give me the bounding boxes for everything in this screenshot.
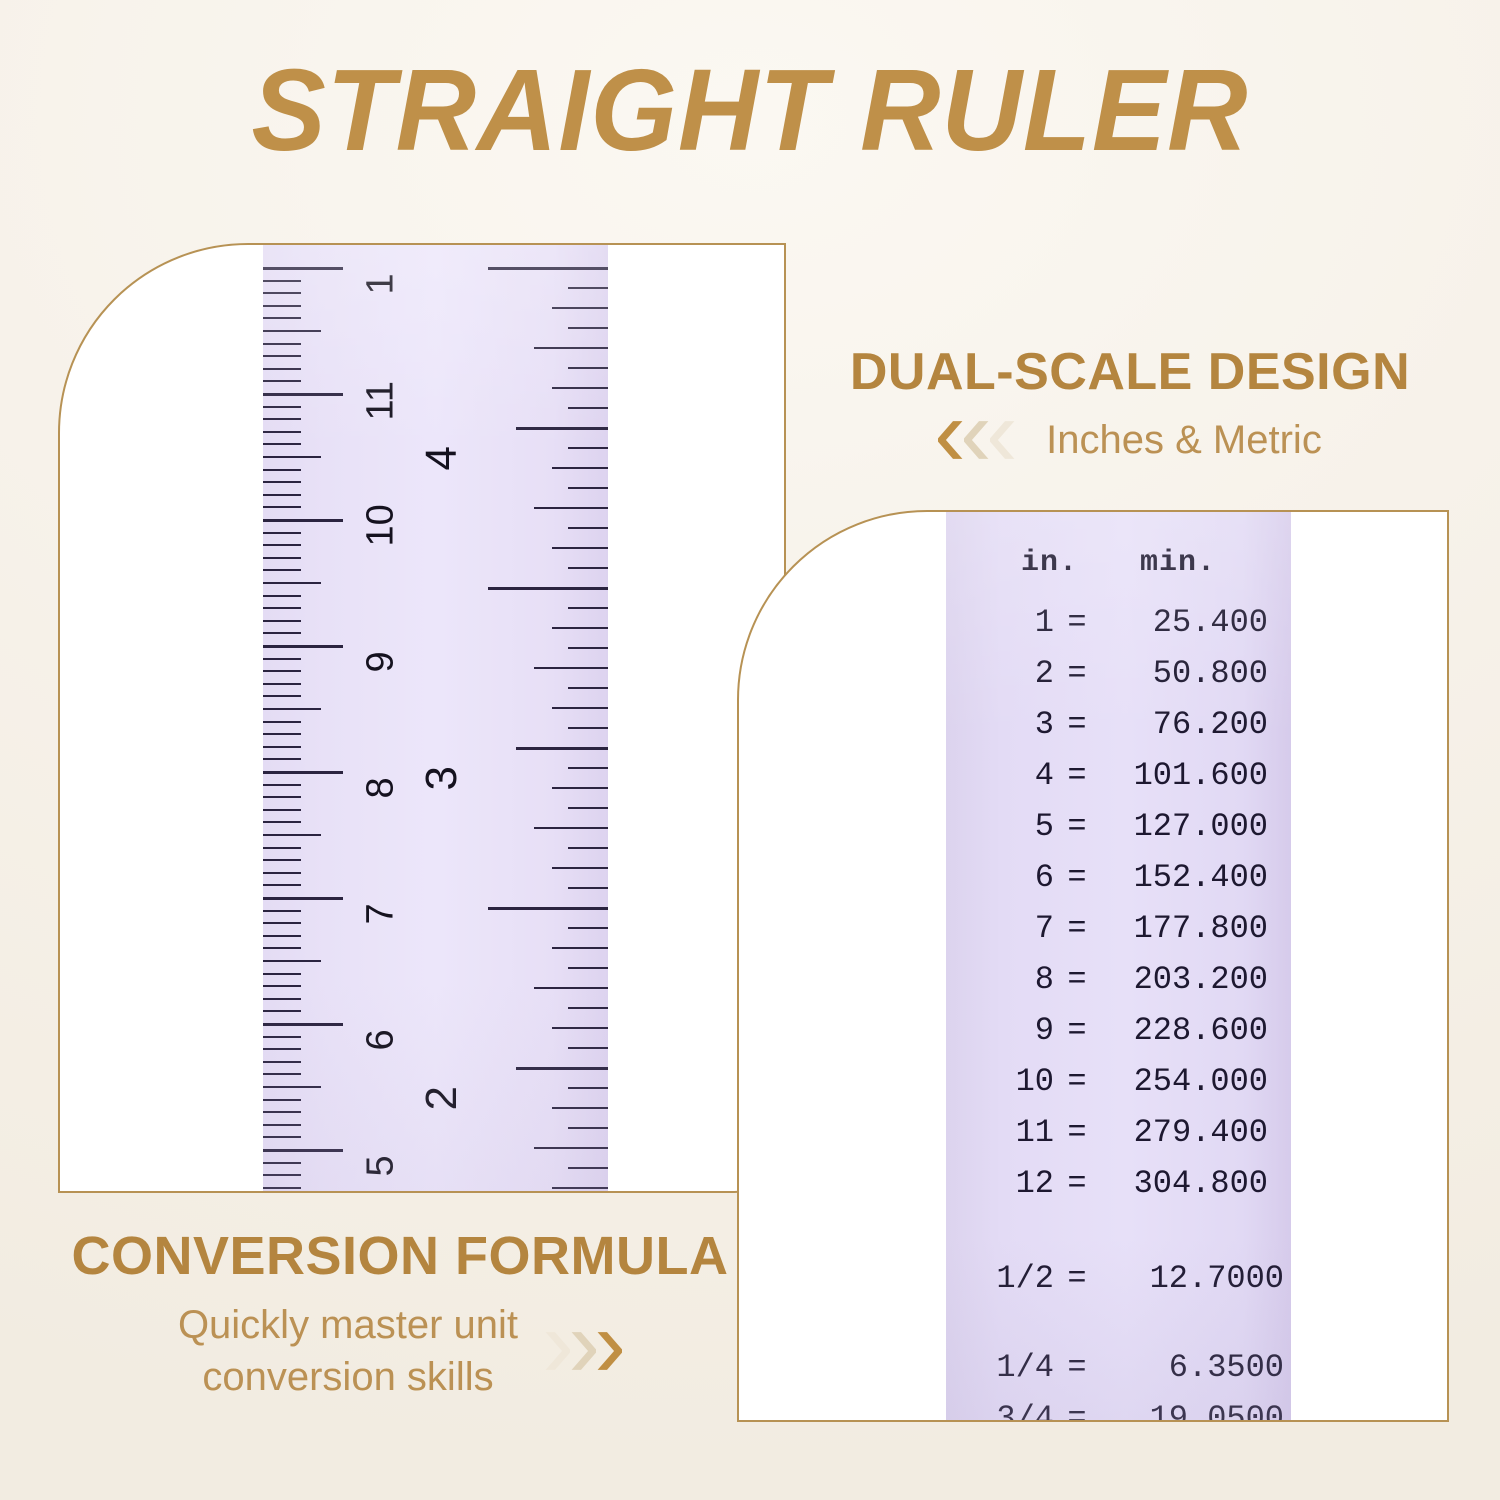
table-cell-inches: 8 (946, 961, 1054, 998)
inch-tick (534, 827, 608, 829)
metric-tick (263, 998, 301, 1000)
inch-number-label: 4 (417, 446, 467, 506)
table-cell-millimeters: 152.400 (1100, 859, 1282, 896)
chevron-left-icon-group (938, 420, 1020, 460)
metric-tick (263, 670, 301, 672)
metric-tick (263, 595, 301, 597)
conversion-table-panel: in. min. 1=25.4002=50.8003=76.2004=101.6… (737, 510, 1449, 1422)
table-row-whole: 7=177.800 (946, 910, 1291, 947)
table-cell-equals: = (1054, 1260, 1100, 1297)
metric-tick (263, 1124, 301, 1126)
table-row-whole: 3=76.200 (946, 706, 1291, 743)
inch-tick (568, 447, 608, 449)
inch-tick (534, 507, 608, 509)
metric-tick (263, 796, 301, 798)
metric-tick (263, 632, 301, 634)
table-cell-equals: = (1054, 859, 1100, 896)
conversion-table-strip: in. min. 1=25.4002=50.8003=76.2004=101.6… (946, 512, 1291, 1420)
inch-tick (568, 647, 608, 649)
metric-tick (263, 973, 301, 975)
metric-tick (263, 784, 301, 786)
metric-tick (263, 569, 301, 571)
metric-tick (263, 431, 301, 433)
metric-tick (263, 494, 301, 496)
table-cell-equals: = (1054, 757, 1100, 794)
metric-tick (263, 280, 301, 282)
table-cell-equals: = (1054, 1165, 1100, 1202)
metric-tick (263, 1111, 301, 1113)
inch-tick (516, 747, 608, 750)
metric-tick (263, 897, 343, 900)
table-row-half: 1/2=12.7000 (946, 1260, 1291, 1297)
inch-tick (568, 967, 608, 969)
inch-tick (552, 707, 608, 709)
metric-number-label: 10 (360, 483, 403, 547)
table-cell-millimeters: 76.200 (1100, 706, 1282, 743)
table-row-whole: 8=203.200 (946, 961, 1291, 998)
ruler-photo-panel: 1111098765432 (58, 243, 786, 1193)
table-cell-inches: 12 (946, 1165, 1054, 1202)
inch-number-label: 3 (417, 766, 467, 826)
metric-tick (263, 393, 343, 396)
metric-tick (263, 1086, 321, 1088)
inch-tick (552, 627, 608, 629)
inch-tick (534, 987, 608, 989)
metric-tick (263, 532, 301, 534)
table-cell-millimeters: 127.000 (1100, 808, 1282, 845)
table-row-whole: 11=279.400 (946, 1114, 1291, 1151)
inch-tick (568, 1007, 608, 1009)
inch-tick (488, 587, 608, 590)
inch-tick (534, 1147, 608, 1149)
table-row-whole: 1=25.400 (946, 604, 1291, 641)
conversion-formula-subtitle: Quickly master unit conversion skills (178, 1299, 518, 1403)
metric-tick (263, 1187, 301, 1189)
metric-tick (263, 343, 301, 345)
metric-number-label: 11 (360, 357, 403, 421)
metric-tick (263, 834, 321, 836)
metric-number-label: 9 (360, 609, 403, 673)
table-row-whole: 2=50.800 (946, 655, 1291, 692)
inch-tick (568, 527, 608, 529)
metric-tick (263, 872, 301, 874)
metric-tick (263, 355, 301, 357)
metric-tick (263, 935, 301, 937)
conversion-formula-title: CONVERSION FORMULA (50, 1228, 750, 1285)
metric-tick (263, 506, 301, 508)
metric-tick (263, 1036, 301, 1038)
inch-tick (488, 907, 608, 910)
metric-tick (263, 418, 301, 420)
table-cell-millimeters: 177.800 (1100, 910, 1282, 947)
metric-tick (263, 406, 301, 408)
table-cell-equals: = (1054, 1012, 1100, 1049)
inch-tick (568, 887, 608, 889)
table-cell-inches: 1 (946, 604, 1054, 641)
metric-tick (263, 721, 301, 723)
table-cell-millimeters: 50.800 (1100, 655, 1282, 692)
table-row-quarter: 1/4=6.3500 (946, 1349, 1291, 1386)
dual-scale-title: DUAL-SCALE DESIGN (820, 345, 1440, 400)
table-cell-millimeters: 12.7000 (1100, 1260, 1284, 1297)
inch-tick (552, 467, 608, 469)
inch-tick (568, 567, 608, 569)
inch-tick (568, 687, 608, 689)
inch-tick (552, 947, 608, 949)
metric-tick (263, 443, 301, 445)
table-cell-millimeters: 6.3500 (1100, 1349, 1284, 1386)
table-row-whole: 4=101.600 (946, 757, 1291, 794)
inch-tick (534, 347, 608, 349)
inch-tick (568, 327, 608, 329)
metric-tick (263, 847, 301, 849)
table-cell-millimeters: 101.600 (1100, 757, 1282, 794)
metric-tick (263, 884, 301, 886)
inch-tick (568, 847, 608, 849)
metric-number-label: 5 (360, 1113, 403, 1177)
table-cell-equals: = (1054, 706, 1100, 743)
metric-tick (263, 292, 301, 294)
metric-tick (263, 1149, 343, 1152)
inch-tick (568, 607, 608, 609)
dual-scale-row: Inches & Metric (820, 418, 1440, 463)
chevron-left-icon (990, 420, 1020, 460)
inch-tick (568, 1047, 608, 1049)
inch-tick (516, 1067, 608, 1070)
inch-tick (568, 927, 608, 929)
metric-tick (263, 683, 301, 685)
dual-scale-feature: DUAL-SCALE DESIGN Inches & Metric (820, 345, 1440, 463)
table-cell-millimeters: 279.400 (1100, 1114, 1282, 1151)
metric-tick (263, 1010, 301, 1012)
metric-tick (263, 733, 301, 735)
table-cell-inches: 3 (946, 706, 1054, 743)
inch-tick (552, 787, 608, 789)
metric-tick (263, 771, 343, 774)
table-row-whole: 9=228.600 (946, 1012, 1291, 1049)
metric-tick (263, 695, 301, 697)
table-cell-inches: 5 (946, 808, 1054, 845)
table-cell-equals: = (1054, 655, 1100, 692)
inch-tick (568, 487, 608, 489)
metric-tick (263, 1048, 301, 1050)
inch-tick (568, 807, 608, 809)
inch-tick (568, 367, 608, 369)
metric-tick (263, 658, 301, 660)
metric-tick (263, 469, 301, 471)
table-row-quarter: 3/4=19.0500 (946, 1400, 1291, 1420)
inch-number-label: 2 (417, 1086, 467, 1146)
table-cell-equals: = (1054, 961, 1100, 998)
table-row-whole: 5=127.000 (946, 808, 1291, 845)
inch-tick (552, 1027, 608, 1029)
metric-tick (263, 582, 321, 584)
table-cell-millimeters: 254.000 (1100, 1063, 1282, 1100)
metric-tick (263, 317, 301, 319)
metric-tick (263, 1023, 343, 1026)
metric-tick (263, 960, 321, 962)
metric-tick (263, 481, 301, 483)
metric-tick (263, 985, 301, 987)
inch-tick (568, 407, 608, 409)
table-cell-inches: 1/2 (946, 1260, 1054, 1297)
table-cell-inches: 3/4 (946, 1400, 1054, 1420)
inch-tick (516, 427, 608, 430)
table-cell-inches: 10 (946, 1063, 1054, 1100)
metric-tick (263, 1174, 301, 1176)
metric-tick (263, 947, 301, 949)
inch-tick (552, 1187, 608, 1189)
table-cell-equals: = (1054, 1349, 1100, 1386)
metric-tick (263, 758, 301, 760)
metric-tick (263, 1073, 301, 1075)
metric-tick (263, 330, 321, 332)
table-cell-inches: 9 (946, 1012, 1054, 1049)
metric-tick (263, 821, 301, 823)
metric-tick (263, 620, 301, 622)
metric-tick (263, 1099, 301, 1101)
table-header-row: in. min. (946, 546, 1291, 580)
metric-tick (263, 368, 301, 370)
metric-tick (263, 607, 301, 609)
table-cell-inches: 11 (946, 1114, 1054, 1151)
inch-tick (568, 1167, 608, 1169)
metric-tick (263, 809, 301, 811)
metric-tick (263, 267, 343, 270)
inch-tick (568, 767, 608, 769)
inch-tick (552, 387, 608, 389)
chevron-right-icon-group (540, 1331, 622, 1371)
metric-tick (263, 519, 343, 522)
table-cell-millimeters: 25.400 (1100, 604, 1282, 641)
metric-tick (263, 708, 321, 710)
metric-tick (263, 456, 321, 458)
inch-tick (568, 287, 608, 289)
table-cell-equals: = (1054, 1400, 1100, 1420)
table-cell-equals: = (1054, 604, 1100, 641)
metric-tick (263, 1162, 301, 1164)
inch-tick (488, 267, 608, 270)
table-header-mm: min. (1140, 546, 1216, 580)
inch-tick (534, 667, 608, 669)
metric-number-label: 8 (360, 735, 403, 799)
table-cell-equals: = (1054, 808, 1100, 845)
metric-tick (263, 544, 301, 546)
conversion-formula-row: Quickly master unit conversion skills (50, 1299, 750, 1403)
dual-scale-subtitle: Inches & Metric (1046, 418, 1322, 463)
table-cell-inches: 2 (946, 655, 1054, 692)
conversion-formula-feature: CONVERSION FORMULA Quickly master unit c… (50, 1228, 750, 1403)
table-cell-equals: = (1054, 910, 1100, 947)
metric-tick (263, 305, 301, 307)
table-cell-equals: = (1054, 1114, 1100, 1151)
inch-tick (568, 1087, 608, 1089)
inch-tick (552, 867, 608, 869)
metric-number-label: 6 (360, 987, 403, 1051)
metric-tick (263, 380, 301, 382)
metric-number-label: 1 (360, 245, 403, 295)
table-cell-inches: 7 (946, 910, 1054, 947)
inch-tick (552, 1107, 608, 1109)
inch-tick (568, 1127, 608, 1129)
metric-tick (263, 910, 301, 912)
table-cell-inches: 6 (946, 859, 1054, 896)
table-row-whole: 10=254.000 (946, 1063, 1291, 1100)
metric-number-label: 7 (360, 861, 403, 925)
table-cell-inches: 4 (946, 757, 1054, 794)
table-cell-equals: = (1054, 1063, 1100, 1100)
table-cell-millimeters: 228.600 (1100, 1012, 1282, 1049)
table-cell-inches: 1/4 (946, 1349, 1054, 1386)
metric-tick (263, 557, 301, 559)
metric-tick (263, 1061, 301, 1063)
chevron-right-icon (592, 1331, 622, 1371)
metric-tick (263, 1136, 301, 1138)
inch-tick (568, 727, 608, 729)
inch-tick (552, 547, 608, 549)
table-cell-millimeters: 19.0500 (1100, 1400, 1284, 1420)
table-cell-millimeters: 203.200 (1100, 961, 1282, 998)
page-title: STRAIGHT RULER (30, 52, 1470, 168)
table-header-in: in. (1021, 546, 1078, 580)
table-cell-millimeters: 304.800 (1100, 1165, 1282, 1202)
metric-tick (263, 859, 301, 861)
table-row-whole: 6=152.400 (946, 859, 1291, 896)
metric-tick (263, 922, 301, 924)
ruler-strip: 1111098765432 (263, 245, 608, 1191)
inch-tick (552, 307, 608, 309)
table-row-whole: 12=304.800 (946, 1165, 1291, 1202)
metric-tick (263, 746, 301, 748)
metric-tick (263, 645, 343, 648)
